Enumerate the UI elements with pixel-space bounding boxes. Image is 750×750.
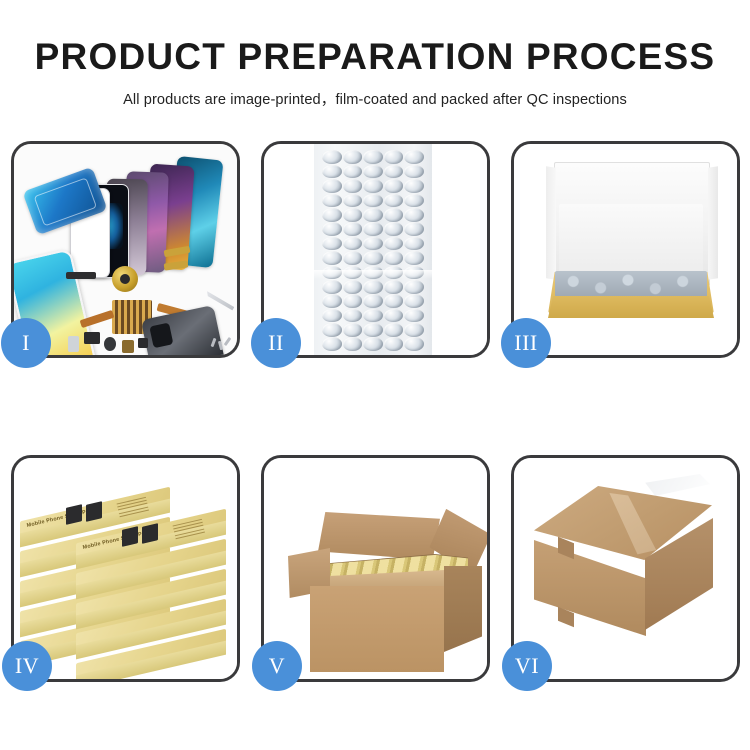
step-badge-4: IV: [2, 641, 52, 691]
bubble: [384, 294, 404, 308]
bubble: [363, 165, 383, 179]
box-front-panel: [548, 296, 714, 318]
bubble: [404, 165, 424, 179]
bubble: [363, 280, 383, 294]
bubble: [384, 179, 404, 193]
bubble: [322, 194, 342, 208]
wrap-sheen: [314, 270, 432, 279]
stacked-boxes-scene: Mobile Phone Spare PartsMobile Phone Spa…: [14, 458, 237, 679]
product-preparation-page: PRODUCT PREPARATION PROCESS All products…: [0, 0, 750, 750]
bubble: [322, 165, 342, 179]
bubble: [404, 237, 424, 251]
bubble: [404, 251, 424, 265]
process-step-2: II: [261, 141, 490, 358]
small-part-1: [84, 332, 100, 344]
bubble: [343, 280, 363, 294]
bubble: [404, 150, 424, 164]
bubble: [404, 280, 424, 294]
bubble: [322, 294, 342, 308]
bubble: [404, 323, 424, 337]
step-badge-6: VI: [502, 641, 552, 691]
bubble: [343, 309, 363, 323]
bubble-wrap-scene: [264, 144, 487, 355]
step-3-image: [514, 144, 737, 355]
bubble: [404, 208, 424, 222]
box-stack: Mobile Phone Spare PartsMobile Phone Spa…: [18, 474, 237, 672]
bubble: [404, 309, 424, 323]
bubble: [384, 208, 404, 222]
bubble: [384, 337, 404, 351]
step-badge-3: III: [501, 318, 551, 368]
bubble: [322, 237, 342, 251]
process-step-4: Mobile Phone Spare PartsMobile Phone Spa…: [11, 455, 240, 682]
process-step-5: V: [261, 455, 490, 682]
bubble: [343, 222, 363, 236]
bubble: [322, 208, 342, 222]
bubble: [343, 208, 363, 222]
open-carton-scene: [264, 458, 487, 679]
bubble: [363, 208, 383, 222]
process-step-6: VI: [511, 455, 740, 682]
bubble: [404, 337, 424, 351]
bubble: [363, 309, 383, 323]
bubble-wrap-strip: [314, 144, 432, 355]
step-4-image: Mobile Phone Spare PartsMobile Phone Spa…: [14, 458, 237, 679]
process-step-1: I: [11, 141, 240, 358]
step-2-image: [264, 144, 487, 355]
bubble: [363, 222, 383, 236]
bubble: [322, 323, 342, 337]
bubble: [343, 251, 363, 265]
bubble-wrap-fill: [555, 271, 707, 297]
step-5-image: [264, 458, 487, 679]
phone-parts-scene: [14, 144, 237, 355]
bubble: [384, 222, 404, 236]
bubble: [404, 194, 424, 208]
bubble: [384, 323, 404, 337]
screws-part: [210, 336, 232, 354]
bubble-grid: [322, 150, 424, 355]
bubble: [363, 251, 383, 265]
bubble: [322, 280, 342, 294]
bubble: [384, 165, 404, 179]
bubble: [343, 194, 363, 208]
small-part-5: [138, 338, 148, 348]
carton-side-panel: [444, 566, 482, 652]
bubble: [363, 337, 383, 351]
tape-sheen: [638, 474, 710, 496]
bubble: [384, 251, 404, 265]
bubble: [384, 194, 404, 208]
bubble: [384, 309, 404, 323]
bubble: [322, 179, 342, 193]
step-6-image: [514, 458, 737, 679]
step-badge-5: V: [252, 641, 302, 691]
bubble: [363, 294, 383, 308]
bubble: [343, 337, 363, 351]
small-part-3: [122, 340, 134, 353]
small-part-4: [68, 336, 79, 352]
bubble: [322, 150, 342, 164]
bubble: [343, 165, 363, 179]
bubble: [322, 251, 342, 265]
bubble: [363, 323, 383, 337]
bubble: [404, 179, 424, 193]
step-1-image: [14, 144, 237, 355]
bubble: [404, 294, 424, 308]
retail-box: Mobile Phone Spare Parts: [76, 526, 226, 552]
bubble: [384, 280, 404, 294]
process-step-grid: I II: [0, 0, 750, 750]
process-step-3: III: [511, 141, 740, 358]
step-badge-2: II: [251, 318, 301, 368]
bubble: [322, 222, 342, 236]
bubble: [363, 179, 383, 193]
inner-box-scene: [514, 144, 737, 355]
small-part-2: [104, 337, 116, 351]
bubble: [322, 309, 342, 323]
bubble: [343, 323, 363, 337]
bubble: [322, 337, 342, 351]
bubble: [384, 237, 404, 251]
foam-sheet: [559, 204, 703, 272]
step-badge-1: I: [1, 318, 51, 368]
bubble: [343, 150, 363, 164]
bubble: [343, 237, 363, 251]
bubble: [343, 179, 363, 193]
carton-flap-back: [318, 512, 440, 560]
bubble: [363, 237, 383, 251]
speaker-coil-part: [112, 266, 138, 292]
carton-front-panel: [310, 586, 444, 672]
bubble: [343, 294, 363, 308]
bubble: [363, 194, 383, 208]
bubble: [404, 222, 424, 236]
sealed-carton-scene: [514, 458, 737, 679]
bubble: [363, 150, 383, 164]
earpiece-mesh-part: [66, 272, 96, 279]
bubble: [384, 150, 404, 164]
